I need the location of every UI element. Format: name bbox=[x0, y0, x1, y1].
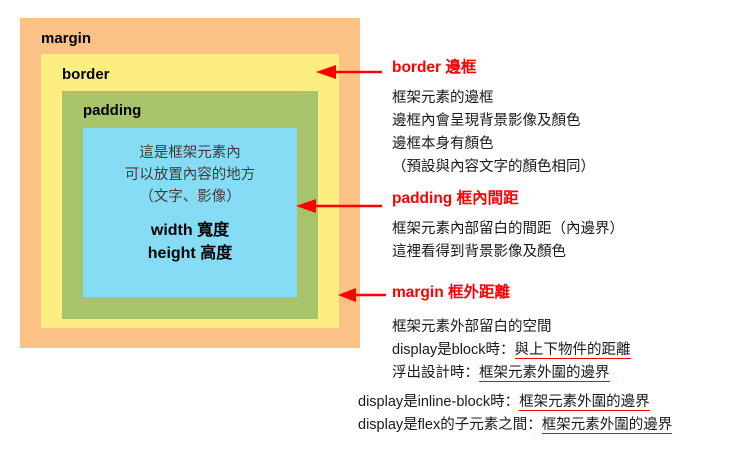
margin-annotation-line-3-underlined: 框架元素外圍的邊界 bbox=[479, 365, 610, 382]
margin-annotation-line-2: display是block時：與上下物件的距離 bbox=[392, 339, 631, 362]
border-annotation-line-4: （預設與內容文字的顏色相同） bbox=[392, 156, 595, 179]
extra-annotation-line-2-underlined: 框架元素外圍的邊界 bbox=[542, 417, 673, 434]
content-text-line-3: （文字、影像） bbox=[139, 186, 241, 208]
margin-annotation-line-3: 浮出設計時：框架元素外圍的邊界 bbox=[392, 362, 631, 385]
margin-box: margin border padding 這是框架元素內 可以放置內容的地方 … bbox=[20, 18, 360, 348]
content-height-label: height 高度 bbox=[148, 242, 232, 265]
padding-annotation-body: 框架元素內部留白的間距（內邊界） 這裡看得到背景影像及顏色 bbox=[392, 218, 624, 264]
extra-annotation-line-1: display是inline-block時：框架元素外圍的邊界 bbox=[358, 391, 672, 414]
padding-box: padding 這是框架元素內 可以放置內容的地方 （文字、影像） width … bbox=[62, 91, 318, 319]
margin-label: margin bbox=[41, 31, 91, 46]
margin-annotation-line-2-underlined: 與上下物件的距離 bbox=[515, 342, 631, 359]
extra-annotation-line-1-underlined: 框架元素外圍的邊界 bbox=[519, 394, 650, 411]
extra-annotation-line-2: display是flex的子元素之間：框架元素外圍的邊界 bbox=[358, 414, 672, 437]
margin-annotation-line-3-prefix: 浮出設計時： bbox=[392, 365, 479, 381]
padding-annotation-line-1: 框架元素內部留白的間距（內邊界） bbox=[392, 218, 624, 241]
margin-annotation-line-1: 框架元素外部留白的空間 bbox=[392, 316, 631, 339]
border-annotation-line-3: 邊框本身有顏色 bbox=[392, 133, 595, 156]
extra-annotation-line-2-prefix: display是flex的子元素之間： bbox=[358, 417, 542, 433]
border-annotation-line-1: 框架元素的邊框 bbox=[392, 87, 595, 110]
border-label: border bbox=[62, 67, 110, 82]
border-annotation-body: 框架元素的邊框 邊框內會呈現背景影像及顏色 邊框本身有顏色 （預設與內容文字的顏… bbox=[392, 87, 595, 179]
margin-annotation-body: 框架元素外部留白的空間 display是block時：與上下物件的距離 浮出設計… bbox=[392, 316, 631, 385]
padding-annotation-line-2: 這裡看得到背景影像及顏色 bbox=[392, 241, 624, 264]
margin-annotation-heading: margin 框外距離 bbox=[392, 285, 510, 301]
border-box: border padding 這是框架元素內 可以放置內容的地方 （文字、影像）… bbox=[41, 54, 339, 328]
content-width-label: width 寬度 bbox=[148, 219, 232, 242]
margin-annotation-line-1-text: 框架元素外部留白的空間 bbox=[392, 319, 552, 335]
border-annotation-heading: border 邊框 bbox=[392, 60, 476, 76]
border-annotation-line-2: 邊框內會呈現背景影像及顏色 bbox=[392, 110, 595, 133]
content-text-line-1: 這是框架元素內 bbox=[139, 142, 241, 164]
extra-annotation-line-1-prefix: display是inline-block時： bbox=[358, 394, 519, 410]
content-box: 這是框架元素內 可以放置內容的地方 （文字、影像） width 寬度 heigh… bbox=[83, 128, 297, 297]
padding-label: padding bbox=[83, 103, 141, 118]
content-text-line-2: 可以放置內容的地方 bbox=[125, 164, 256, 186]
box-model-diagram: margin border padding 這是框架元素內 可以放置內容的地方 … bbox=[20, 18, 360, 348]
content-dimensions: width 寬度 height 高度 bbox=[148, 219, 232, 265]
margin-annotation-line-2-prefix: display是block時： bbox=[392, 342, 515, 358]
padding-annotation-heading: padding 框內間距 bbox=[392, 191, 519, 207]
extra-annotation-body: display是inline-block時：框架元素外圍的邊界 display是… bbox=[358, 391, 672, 437]
